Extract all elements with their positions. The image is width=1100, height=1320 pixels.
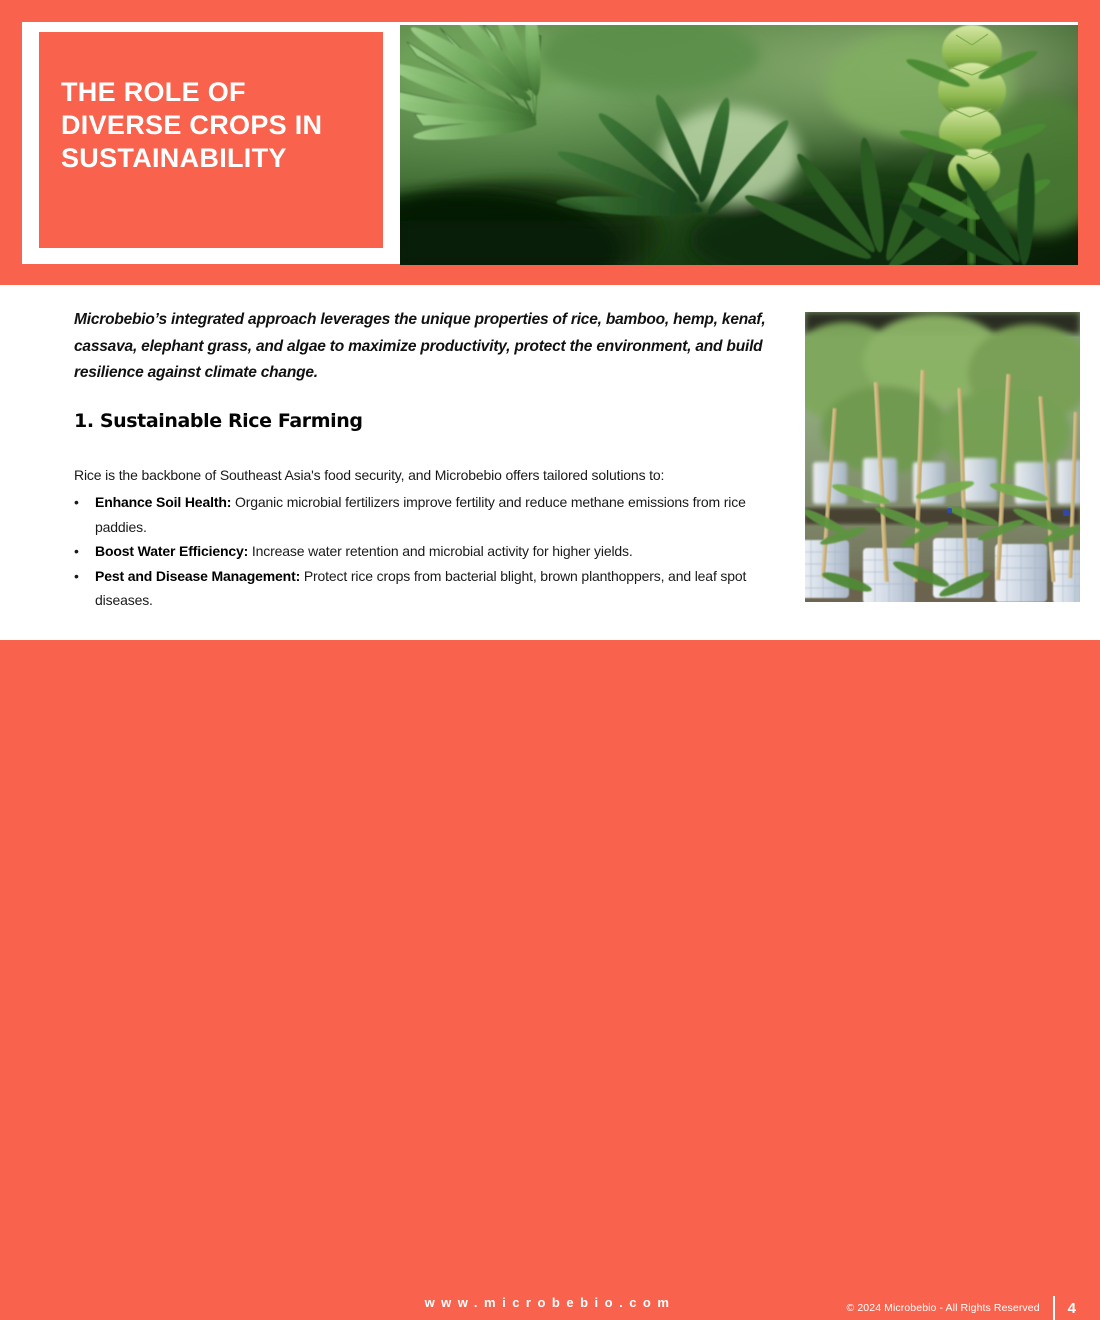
list-item: Boost Water Efficiency: Increase water r… bbox=[74, 539, 774, 564]
bullet-list: Enhance Soil Health: Organic microbial f… bbox=[74, 490, 774, 613]
bullet-lead: Boost Water Efficiency: bbox=[95, 543, 248, 559]
footer-bar: www.microbebio.com © 2024 Microbebio - A… bbox=[0, 640, 1100, 700]
footer-divider bbox=[1053, 1296, 1055, 1320]
title-box: THE ROLE OF DIVERSE CROPS IN SUSTAINABIL… bbox=[39, 32, 383, 248]
hemp-plant-illustration bbox=[400, 25, 1078, 265]
bullet-lead: Enhance Soil Health: bbox=[95, 494, 231, 510]
footer-right-group: © 2024 Microbebio - All Rights Reserved … bbox=[847, 1296, 1076, 1320]
intro-block: Microbebio’s integrated approach leverag… bbox=[74, 307, 774, 387]
list-item: Enhance Soil Health: Organic microbial f… bbox=[74, 490, 774, 539]
hero-image bbox=[400, 25, 1078, 265]
section-heading: 1. Sustainable Rice Farming bbox=[74, 410, 363, 432]
bullet-lead: Pest and Disease Management: bbox=[95, 568, 300, 584]
page-number: 4 bbox=[1068, 1300, 1076, 1317]
plant-nursery-illustration bbox=[805, 312, 1080, 602]
list-item: Pest and Disease Management: Protect ric… bbox=[74, 564, 774, 613]
page-title: THE ROLE OF DIVERSE CROPS IN SUSTAINABIL… bbox=[61, 76, 365, 175]
intro-paragraph: Microbebio’s integrated approach leverag… bbox=[74, 307, 774, 387]
lead-line: Rice is the backbone of Southeast Asia's… bbox=[74, 465, 664, 486]
copyright-text: © 2024 Microbebio - All Rights Reserved bbox=[847, 1302, 1053, 1314]
bullet-text: Increase water retention and microbial a… bbox=[248, 543, 632, 559]
slide: THE ROLE OF DIVERSE CROPS IN SUSTAINABIL… bbox=[0, 0, 1100, 700]
side-image bbox=[805, 312, 1080, 602]
